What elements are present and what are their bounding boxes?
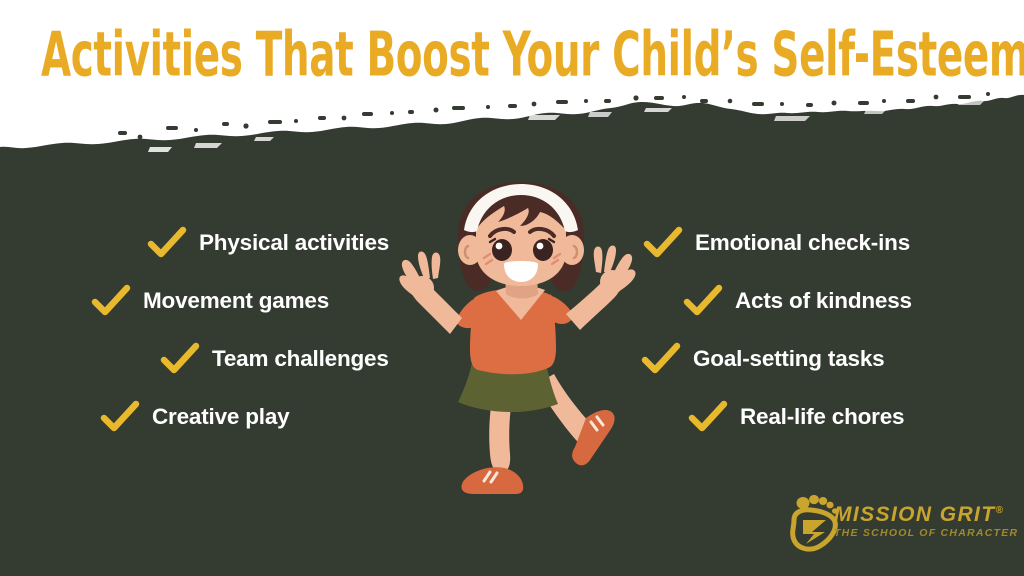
happy-child-illustration bbox=[398, 178, 644, 500]
checklist-item-label: Creative play bbox=[152, 404, 289, 430]
checklist-item-label: Physical activities bbox=[199, 230, 389, 256]
check-icon bbox=[683, 284, 723, 318]
checklist-item-label: Emotional check-ins bbox=[695, 230, 910, 256]
check-icon bbox=[688, 400, 728, 434]
check-icon bbox=[100, 400, 140, 434]
checklist-item: Movement games bbox=[85, 272, 415, 330]
checklist-item: Acts of kindness bbox=[633, 272, 963, 330]
check-icon bbox=[160, 342, 200, 376]
infographic-canvas: Activities That Boost Your Child’s Self-… bbox=[0, 0, 1024, 576]
title-band: Activities That Boost Your Child’s Self-… bbox=[0, 0, 1024, 96]
checklist-item: Creative play bbox=[85, 388, 415, 446]
checklist-item-label: Acts of kindness bbox=[735, 288, 912, 314]
registered-mark: ® bbox=[995, 505, 1002, 516]
check-icon bbox=[643, 226, 683, 260]
checklist-right-column: Emotional check-ins Acts of kindness Goa… bbox=[633, 214, 963, 446]
check-icon bbox=[147, 226, 187, 260]
logo-text: MISSION GRIT® THE SCHOOL OF CHARACTER bbox=[834, 500, 1018, 540]
check-icon bbox=[641, 342, 681, 376]
checklist-item: Real-life chores bbox=[633, 388, 963, 446]
logo-tagline: THE SCHOOL OF CHARACTER bbox=[834, 527, 1018, 540]
checklist-item-label: Team challenges bbox=[212, 346, 389, 372]
mission-grit-logo[interactable]: MISSION GRIT® THE SCHOOL OF CHARACTER bbox=[786, 492, 1000, 554]
checklist-item-label: Movement games bbox=[143, 288, 329, 314]
logo-name-text: MISSION GRIT bbox=[834, 503, 995, 526]
check-icon bbox=[91, 284, 131, 318]
checklist-left-column: Physical activities Movement games Team … bbox=[85, 214, 415, 446]
checklist-item: Team challenges bbox=[85, 330, 415, 388]
logo-name: MISSION GRIT® bbox=[834, 500, 1018, 526]
checklist-item-label: Real-life chores bbox=[740, 404, 904, 430]
checklist-item: Goal-setting tasks bbox=[633, 330, 963, 388]
checklist-item: Physical activities bbox=[85, 214, 415, 272]
page-title: Activities That Boost Your Child’s Self-… bbox=[41, 21, 983, 91]
checklist-item: Emotional check-ins bbox=[633, 214, 963, 272]
checklist-item-label: Goal-setting tasks bbox=[693, 346, 884, 372]
